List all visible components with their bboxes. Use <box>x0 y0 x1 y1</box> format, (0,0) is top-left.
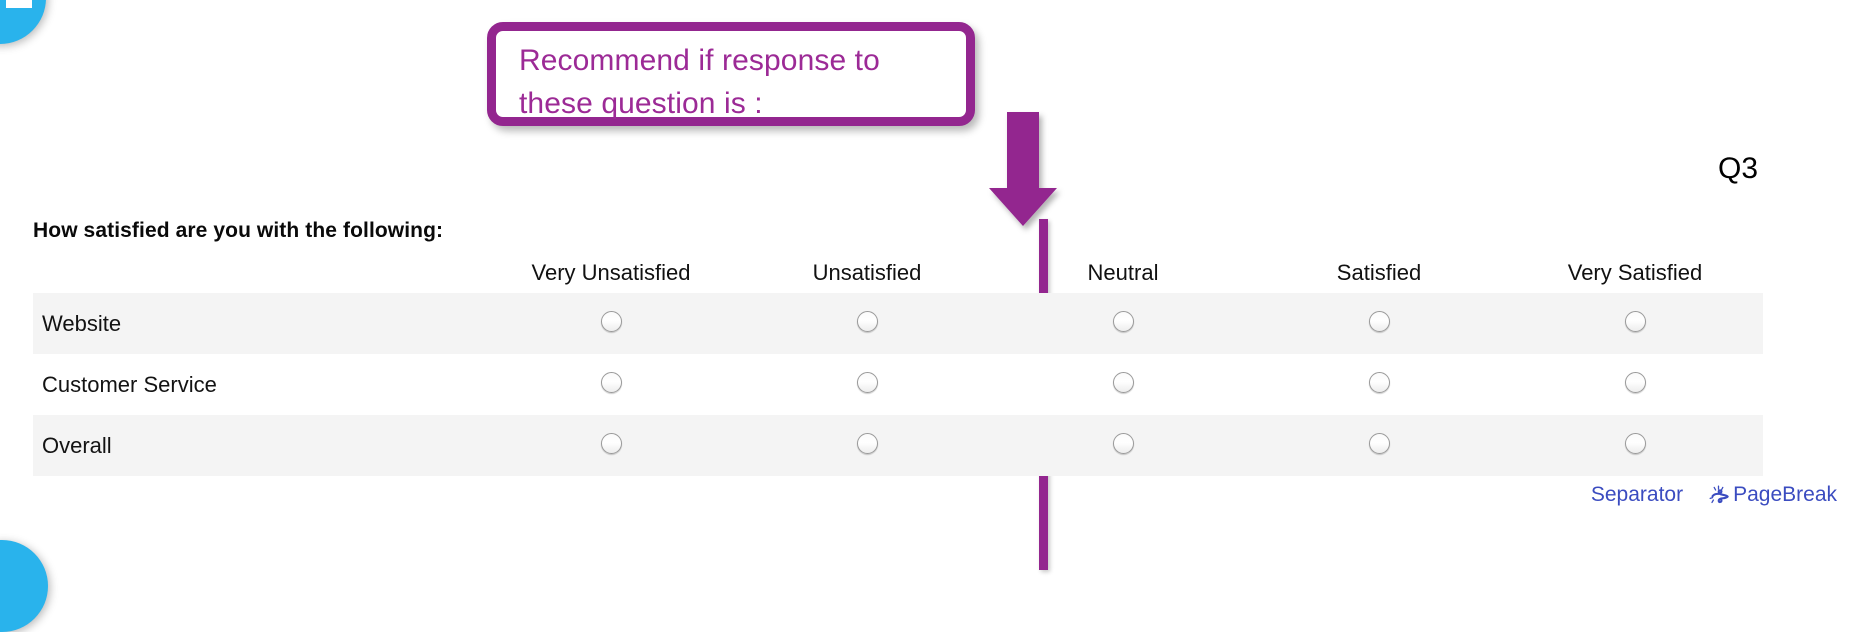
radio-button-customer-service-very-satisfied[interactable] <box>1625 372 1646 393</box>
column-header-satisfied: Satisfied <box>1251 253 1507 293</box>
radio-button-customer-service-unsatisfied[interactable] <box>857 372 878 393</box>
radio-button-website-very-unsatisfied[interactable] <box>601 311 622 332</box>
radio-button-overall-neutral[interactable] <box>1113 433 1134 454</box>
radio-button-customer-service-neutral[interactable] <box>1113 372 1134 393</box>
blue-circle-badge-bottom <box>0 540 48 632</box>
satisfaction-matrix-table: Very Unsatisfied Unsatisfied Neutral Sat… <box>33 253 1763 476</box>
radio-button-website-unsatisfied[interactable] <box>857 311 878 332</box>
radio-cell[interactable] <box>1251 354 1507 415</box>
question-number-label: Q3 <box>1718 152 1758 186</box>
radio-cell[interactable] <box>483 415 739 476</box>
table-row: Customer Service <box>33 354 1763 415</box>
page-break-icon <box>1709 485 1731 505</box>
matrix-header-row: Very Unsatisfied Unsatisfied Neutral Sat… <box>33 253 1763 293</box>
radio-cell[interactable] <box>1507 293 1763 354</box>
pagebreak-link[interactable]: PageBreak <box>1709 483 1837 507</box>
column-header-unsatisfied: Unsatisfied <box>739 253 995 293</box>
column-header-very-satisfied: Very Satisfied <box>1507 253 1763 293</box>
radio-cell[interactable] <box>1251 293 1507 354</box>
radio-cell[interactable] <box>739 415 995 476</box>
row-label-customer-service: Customer Service <box>33 354 483 415</box>
radio-cell[interactable] <box>995 354 1251 415</box>
row-label-website: Website <box>33 293 483 354</box>
radio-button-website-very-satisfied[interactable] <box>1625 311 1646 332</box>
radio-cell[interactable] <box>483 293 739 354</box>
pagebreak-link-label: PageBreak <box>1733 483 1837 507</box>
column-header-very-unsatisfied: Very Unsatisfied <box>483 253 739 293</box>
question-title: How satisfied are you with the following… <box>33 219 443 243</box>
radio-button-overall-very-satisfied[interactable] <box>1625 433 1646 454</box>
radio-cell[interactable] <box>995 293 1251 354</box>
radio-cell[interactable] <box>1507 415 1763 476</box>
editor-tool-links: Separator PageBreak <box>1591 483 1837 507</box>
column-header-neutral: Neutral <box>995 253 1251 293</box>
table-row: Website <box>33 293 1763 354</box>
annotation-callout-text: Recommend if response to these question … <box>519 39 956 125</box>
radio-button-overall-satisfied[interactable] <box>1369 433 1390 454</box>
radio-cell[interactable] <box>1251 415 1507 476</box>
radio-cell[interactable] <box>739 354 995 415</box>
radio-button-customer-service-satisfied[interactable] <box>1369 372 1390 393</box>
radio-button-overall-very-unsatisfied[interactable] <box>601 433 622 454</box>
row-label-overall: Overall <box>33 415 483 476</box>
radio-cell[interactable] <box>483 354 739 415</box>
radio-cell[interactable] <box>995 415 1251 476</box>
radio-button-customer-service-very-unsatisfied[interactable] <box>601 372 622 393</box>
separator-link-label: Separator <box>1591 483 1683 507</box>
radio-button-overall-unsatisfied[interactable] <box>857 433 878 454</box>
radio-cell[interactable] <box>739 293 995 354</box>
radio-button-website-neutral[interactable] <box>1113 311 1134 332</box>
radio-button-website-satisfied[interactable] <box>1369 311 1390 332</box>
annotation-callout: Recommend if response to these question … <box>487 22 975 126</box>
matrix-corner-cell <box>33 253 483 293</box>
down-arrow-icon <box>985 110 1105 235</box>
badge-glyph-icon <box>6 0 32 8</box>
blue-circle-badge-top <box>0 0 46 44</box>
table-row: Overall <box>33 415 1763 476</box>
separator-link[interactable]: Separator <box>1591 483 1683 507</box>
radio-cell[interactable] <box>1507 354 1763 415</box>
